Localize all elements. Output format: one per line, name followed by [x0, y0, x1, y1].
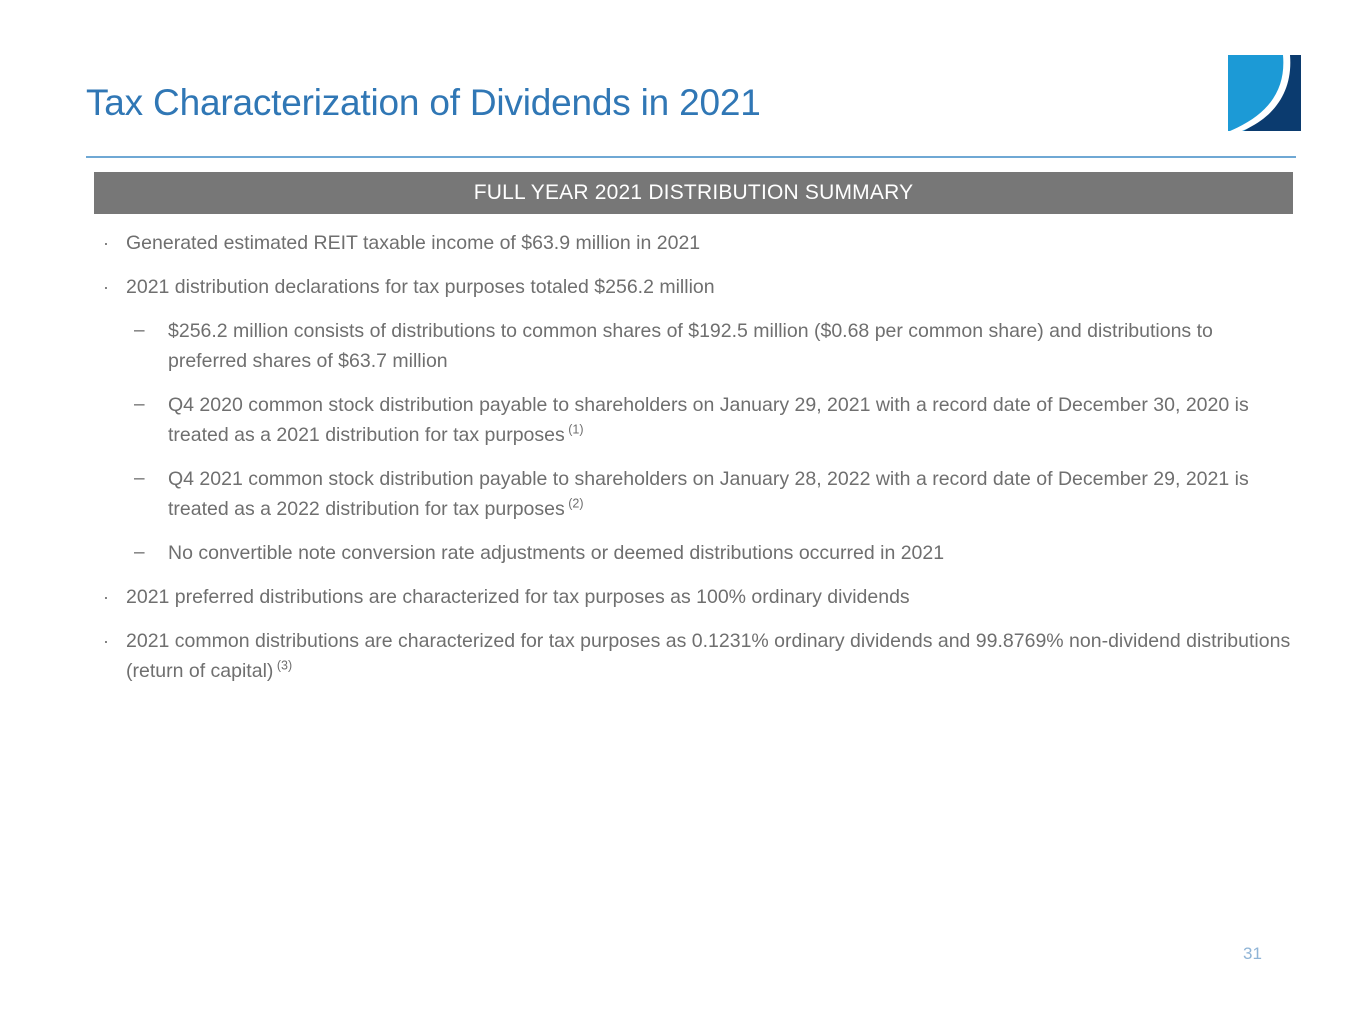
bullet-item: · Generated estimated REIT taxable incom…	[94, 228, 1294, 258]
bullet-text: 2021 distribution declarations for tax p…	[126, 272, 1294, 302]
bullet-marker-dot: ·	[94, 626, 126, 656]
footnote-superscript: (2)	[565, 497, 584, 511]
page-title: Tax Characterization of Dividends in 202…	[86, 80, 761, 126]
section-header-band: FULL YEAR 2021 DISTRIBUTION SUMMARY	[94, 172, 1293, 214]
bullet-item: · 2021 common distributions are characte…	[94, 626, 1294, 686]
sub-bullet-text: No convertible note conversion rate adju…	[168, 538, 1258, 568]
bullet-marker-dash: –	[134, 464, 168, 494]
sub-bullet-item: – Q4 2021 common stock distribution paya…	[94, 464, 1294, 524]
sub-bullet-item: – No convertible note conversion rate ad…	[94, 538, 1294, 568]
sub-bullet-item: – Q4 2020 common stock distribution paya…	[94, 390, 1294, 450]
bullet-text: 2021 common distributions are characteri…	[126, 626, 1294, 686]
bullet-marker-dot: ·	[94, 582, 126, 612]
bullet-marker-dash: –	[134, 390, 168, 420]
sub-bullet-text: Q4 2020 common stock distribution payabl…	[168, 390, 1258, 450]
bullet-item: · 2021 preferred distributions are chara…	[94, 582, 1294, 612]
footnote-superscript: (3)	[273, 659, 292, 673]
bullet-list: · Generated estimated REIT taxable incom…	[94, 228, 1294, 700]
sub-bullet-text: Q4 2021 common stock distribution payabl…	[168, 464, 1258, 524]
bullet-marker-dot: ·	[94, 272, 126, 302]
company-logo-icon	[1228, 55, 1301, 131]
bullet-marker-dot: ·	[94, 228, 126, 258]
bullet-item: · 2021 distribution declarations for tax…	[94, 272, 1294, 302]
bullet-marker-dash: –	[134, 316, 168, 346]
title-divider-rule	[86, 156, 1296, 158]
company-logo	[1228, 55, 1301, 131]
section-header-label: FULL YEAR 2021 DISTRIBUTION SUMMARY	[474, 181, 914, 205]
slide-canvas: Tax Characterization of Dividends in 202…	[0, 0, 1365, 1024]
bullet-text: Generated estimated REIT taxable income …	[126, 228, 1294, 258]
sub-bullet-item: – $256.2 million consists of distributio…	[94, 316, 1294, 376]
bullet-marker-dash: –	[134, 538, 168, 568]
page-number: 31	[1243, 944, 1262, 964]
sub-bullet-text: $256.2 million consists of distributions…	[168, 316, 1258, 376]
bullet-text: 2021 preferred distributions are charact…	[126, 582, 1294, 612]
footnote-superscript: (1)	[565, 423, 584, 437]
